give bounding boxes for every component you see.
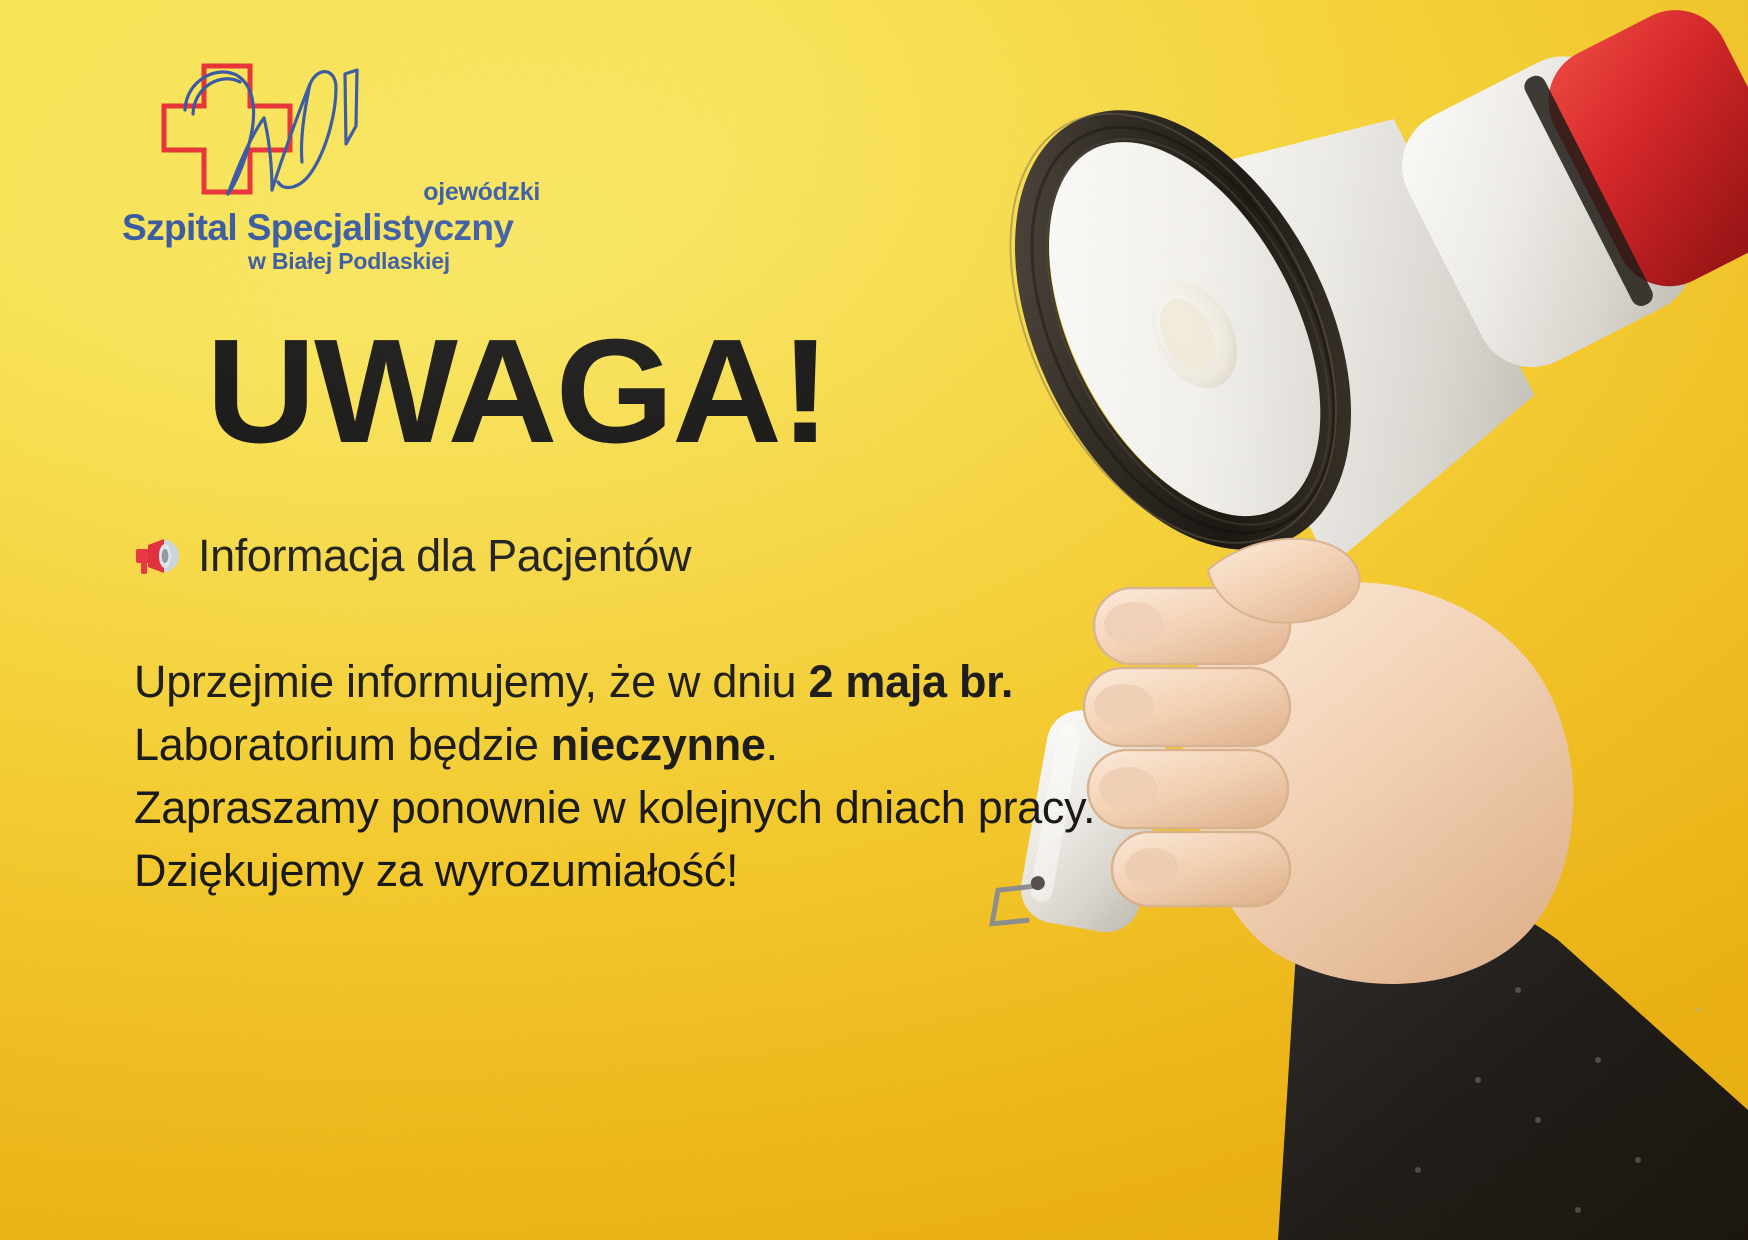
subheading-label: Informacja dla Pacjentów — [198, 530, 691, 582]
announcement-body: Uprzejmie informujemy, że w dniu 2 maja … — [134, 650, 1095, 902]
logo-line-1: ojewódzki — [120, 180, 540, 205]
page-title: UWAGA! — [206, 318, 829, 466]
announcement-line: Uprzejmie informujemy, że w dniu 2 maja … — [134, 650, 1095, 713]
announcement-text: Zapraszamy ponownie w kolejnych dniach p… — [134, 782, 1095, 833]
announcement-text: . — [766, 719, 778, 770]
megaphone-emoji-icon — [134, 536, 182, 576]
announcement-emphasis: 2 maja br. — [808, 656, 1013, 707]
logo-line-2: Szpital Specjalistyczny — [120, 209, 540, 247]
subheading: Informacja dla Pacjentów — [134, 530, 691, 582]
logo-line-3: w Białej Podlaskiej — [120, 249, 540, 273]
hand-holding-megaphone-photo — [918, 0, 1748, 1240]
announcement-line: Zapraszamy ponownie w kolejnych dniach p… — [134, 776, 1095, 839]
announcement-emphasis: nieczynne — [551, 719, 766, 770]
announcement-text: Uprzejmie informujemy, że w dniu — [134, 656, 808, 707]
announcement-text: Laboratorium będzie — [134, 719, 551, 770]
announcement-line: Laboratorium będzie nieczynne. — [134, 713, 1095, 776]
hospital-logo: ojewódzki Szpital Specjalistyczny w Biał… — [120, 62, 540, 272]
announcement-text: Dziękujemy za wyrozumiałość! — [134, 845, 738, 896]
poster-canvas: ojewódzki Szpital Specjalistyczny w Biał… — [0, 0, 1748, 1240]
announcement-line: Dziękujemy za wyrozumiałość! — [134, 839, 1095, 902]
